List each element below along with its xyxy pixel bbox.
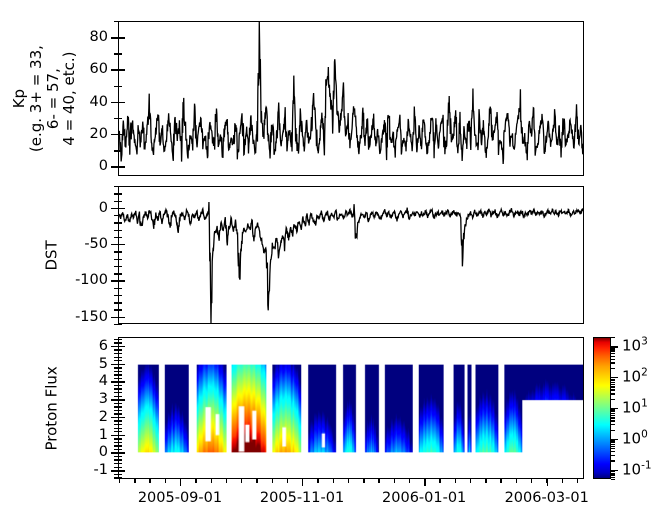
axis-label-line: 4 = 40, etc.) bbox=[61, 21, 78, 176]
proton-flux-spectrogram bbox=[119, 338, 583, 478]
colorbar-minor-tick bbox=[611, 386, 615, 387]
y-major-tick-inner bbox=[118, 317, 125, 318]
y-minor-tick-inner bbox=[118, 150, 122, 151]
y-minor-tick-inner bbox=[118, 21, 122, 22]
colorbar-minor-tick bbox=[611, 474, 615, 475]
y-minor-tick-inner bbox=[118, 288, 122, 289]
axis-label-line: (e.g. 3+ = 33, bbox=[27, 21, 44, 176]
colorbar-minor-tick bbox=[611, 473, 615, 474]
y-minor-tick-inner bbox=[118, 403, 122, 404]
y-major-tick-inner bbox=[118, 280, 125, 281]
y-minor-tick-inner bbox=[118, 342, 122, 343]
y-major-tick bbox=[111, 381, 118, 382]
y-minor-tick-inner bbox=[118, 385, 122, 386]
y-major-tick-inner bbox=[118, 166, 125, 167]
colorbar-minor-tick bbox=[611, 479, 615, 480]
y-major-tick-inner bbox=[118, 102, 125, 103]
y-major-tick bbox=[111, 37, 118, 38]
proton-flux-panel bbox=[118, 337, 584, 479]
x-minor-tick bbox=[500, 479, 501, 483]
y-major-tick bbox=[111, 452, 118, 453]
series-polyline bbox=[119, 22, 583, 164]
colorbar-minor-tick bbox=[611, 477, 615, 478]
y-minor-tick-inner bbox=[118, 251, 122, 252]
y-minor-tick-inner bbox=[118, 424, 122, 425]
y-major-tick bbox=[111, 102, 118, 103]
colorbar-minor-tick bbox=[611, 353, 615, 354]
y-tick-label: 3 bbox=[99, 392, 108, 407]
colorbar-major-tick bbox=[611, 439, 618, 440]
y-minor-tick-inner bbox=[118, 396, 122, 397]
y-tick-label: 0 bbox=[99, 201, 108, 216]
y-major-tick-inner bbox=[118, 244, 125, 245]
y-minor-tick-inner bbox=[118, 222, 122, 223]
kp-series-line bbox=[119, 22, 583, 175]
colorbar-minor-tick bbox=[611, 413, 615, 414]
colorbar-minor-tick bbox=[611, 448, 615, 449]
y-tick-label: 40 bbox=[90, 94, 108, 109]
x-tick-label: 2006-03-01 bbox=[505, 491, 589, 506]
colorbar-minor-tick bbox=[611, 444, 615, 445]
y-minor-tick-inner bbox=[118, 53, 122, 54]
colorbar-ticks: 10-1100101102103 bbox=[593, 337, 611, 479]
y-tick-label: -150 bbox=[75, 309, 108, 324]
x-minor-tick bbox=[226, 479, 227, 483]
colorbar-minor-tick bbox=[611, 415, 615, 416]
x-tick-label: 2005-09-01 bbox=[138, 491, 222, 506]
colorbar-minor-tick bbox=[611, 356, 615, 357]
y-minor-tick-inner bbox=[118, 445, 122, 446]
y-minor-tick-inner bbox=[118, 374, 122, 375]
y-minor-tick-inner bbox=[118, 456, 122, 457]
colorbar-major-tick bbox=[611, 346, 618, 347]
y-minor-tick-inner bbox=[118, 463, 122, 464]
y-minor-tick-inner bbox=[118, 467, 122, 468]
colorbar-minor-tick bbox=[611, 362, 615, 363]
y-tick-label: -50 bbox=[84, 237, 108, 252]
y-minor-tick-inner bbox=[118, 459, 122, 460]
colorbar-exponent: 0 bbox=[641, 428, 648, 440]
proton-flux-axis-label: Proton Flux bbox=[44, 337, 61, 479]
figure-root: Kp(e.g. 3+ = 33,6- = 57,4 = 40, etc.) 02… bbox=[0, 0, 665, 523]
y-minor-tick-inner bbox=[118, 410, 122, 411]
y-minor-tick-inner bbox=[118, 442, 122, 443]
y-major-tick bbox=[111, 134, 118, 135]
y-major-tick-inner bbox=[118, 208, 125, 209]
x-minor-tick bbox=[378, 479, 379, 483]
colorbar-minor-tick bbox=[611, 348, 615, 349]
colorbar-minor-tick bbox=[611, 460, 615, 461]
y-minor-tick-inner bbox=[118, 309, 122, 310]
colorbar-minor-tick bbox=[611, 351, 615, 352]
x-minor-tick bbox=[455, 479, 456, 483]
x-minor-tick bbox=[485, 479, 486, 483]
x-minor-tick bbox=[577, 479, 578, 483]
x-major-tick bbox=[424, 479, 425, 486]
y-minor-tick-inner bbox=[118, 186, 122, 187]
y-major-tick-inner bbox=[118, 69, 125, 70]
y-major-tick bbox=[111, 417, 118, 418]
colorbar-minor-tick bbox=[611, 451, 615, 452]
y-major-tick bbox=[111, 399, 118, 400]
y-minor-tick-inner bbox=[118, 324, 122, 325]
y-minor-tick-inner bbox=[118, 273, 122, 274]
colorbar-tick-label: 102 bbox=[622, 370, 648, 385]
x-minor-tick bbox=[317, 479, 318, 483]
x-major-tick bbox=[180, 479, 181, 486]
y-minor-tick-inner bbox=[118, 237, 122, 238]
colorbar-exponent: 1 bbox=[641, 398, 648, 410]
y-major-tick-inner bbox=[118, 399, 125, 400]
colorbar-minor-tick bbox=[611, 409, 615, 410]
y-minor-tick-inner bbox=[118, 474, 122, 475]
colorbar-minor-tick bbox=[611, 382, 615, 383]
y-minor-tick-inner bbox=[118, 193, 122, 194]
y-tick-label: 60 bbox=[90, 62, 108, 77]
y-minor-tick-inner bbox=[118, 378, 122, 379]
colorbar-major-tick bbox=[611, 377, 618, 378]
y-minor-tick-inner bbox=[118, 449, 122, 450]
y-major-tick-inner bbox=[118, 435, 125, 436]
colorbar-minor-tick bbox=[611, 440, 615, 441]
colorbar-minor-tick bbox=[611, 430, 615, 431]
colorbar-minor-tick bbox=[611, 349, 615, 350]
y-major-tick bbox=[111, 364, 118, 365]
y-minor-tick-inner bbox=[118, 302, 122, 303]
colorbar-minor-tick bbox=[611, 368, 615, 369]
colorbar-tick-label: 101 bbox=[622, 401, 648, 416]
x-minor-tick bbox=[470, 479, 471, 483]
y-tick-label: -1 bbox=[94, 463, 108, 478]
colorbar-tick-label: 100 bbox=[622, 431, 648, 446]
y-major-tick-inner bbox=[118, 364, 125, 365]
x-minor-tick bbox=[409, 479, 410, 483]
y-tick-label: 1 bbox=[99, 427, 108, 442]
x-minor-tick bbox=[134, 479, 135, 483]
y-tick-label: 6 bbox=[99, 339, 108, 354]
y-major-tick bbox=[111, 166, 118, 167]
axis-label-line: Kp bbox=[10, 21, 27, 176]
axis-label-line: Proton Flux bbox=[44, 337, 61, 479]
x-minor-tick bbox=[348, 479, 349, 483]
y-major-tick-inner bbox=[118, 452, 125, 453]
y-minor-tick-inner bbox=[118, 339, 122, 340]
y-minor-tick-inner bbox=[118, 360, 122, 361]
colorbar-minor-tick bbox=[611, 442, 615, 443]
colorbar-exponent: 3 bbox=[641, 336, 648, 348]
x-minor-tick bbox=[439, 479, 440, 483]
y-tick-label: 20 bbox=[90, 127, 108, 142]
y-major-tick bbox=[111, 208, 118, 209]
colorbar: 10-1100101102103 bbox=[593, 337, 611, 479]
x-tick-label: 2005-11-01 bbox=[260, 491, 344, 506]
y-major-tick-inner bbox=[118, 381, 125, 382]
y-tick-label: 0 bbox=[99, 159, 108, 174]
x-major-tick bbox=[547, 479, 548, 486]
y-tick-label: 5 bbox=[99, 356, 108, 371]
y-major-tick bbox=[111, 470, 118, 471]
dst-panel bbox=[118, 186, 584, 324]
y-minor-tick-inner bbox=[118, 215, 122, 216]
colorbar-tick-label: 103 bbox=[622, 339, 648, 354]
x-minor-tick bbox=[195, 479, 196, 483]
x-minor-tick bbox=[256, 479, 257, 483]
colorbar-minor-tick bbox=[611, 379, 615, 380]
y-minor-tick-inner bbox=[118, 353, 122, 354]
colorbar-minor-tick bbox=[611, 455, 615, 456]
colorbar-minor-tick bbox=[611, 471, 615, 472]
y-major-tick bbox=[111, 280, 118, 281]
colorbar-minor-tick bbox=[611, 420, 615, 421]
colorbar-minor-tick bbox=[611, 399, 615, 400]
y-major-tick-inner bbox=[118, 470, 125, 471]
y-minor-tick-inner bbox=[118, 266, 122, 267]
y-minor-tick-inner bbox=[118, 438, 122, 439]
y-tick-label: 80 bbox=[90, 30, 108, 45]
y-major-tick bbox=[111, 346, 118, 347]
colorbar-exponent: 2 bbox=[641, 367, 648, 379]
y-major-tick-inner bbox=[118, 134, 125, 135]
dst-series-line bbox=[119, 187, 583, 323]
y-major-tick bbox=[111, 69, 118, 70]
x-minor-tick bbox=[241, 479, 242, 483]
x-minor-tick bbox=[165, 479, 166, 483]
y-minor-tick-inner bbox=[118, 259, 122, 260]
kp-axis-label: Kp(e.g. 3+ = 33,6- = 57,4 = 40, etc.) bbox=[10, 21, 77, 176]
y-minor-tick-inner bbox=[118, 367, 122, 368]
colorbar-tick-label: 10-1 bbox=[622, 462, 652, 477]
colorbar-minor-tick bbox=[611, 393, 615, 394]
colorbar-minor-tick bbox=[611, 380, 615, 381]
colorbar-exponent: -1 bbox=[641, 459, 651, 471]
colorbar-minor-tick bbox=[611, 446, 615, 447]
y-major-tick bbox=[111, 244, 118, 245]
colorbar-minor-tick bbox=[611, 389, 615, 390]
y-tick-label: 0 bbox=[99, 445, 108, 460]
y-tick-label: 4 bbox=[99, 374, 108, 389]
y-minor-tick-inner bbox=[118, 431, 122, 432]
colorbar-major-tick bbox=[611, 470, 618, 471]
y-minor-tick-inner bbox=[118, 371, 122, 372]
x-minor-tick bbox=[333, 479, 334, 483]
y-major-tick bbox=[111, 435, 118, 436]
axis-label-line: DST bbox=[44, 186, 61, 324]
y-minor-tick-inner bbox=[118, 201, 122, 202]
colorbar-minor-tick bbox=[611, 359, 615, 360]
x-minor-tick bbox=[211, 479, 212, 483]
y-major-tick-inner bbox=[118, 417, 125, 418]
y-minor-tick-inner bbox=[118, 230, 122, 231]
colorbar-minor-tick bbox=[611, 411, 615, 412]
x-minor-tick bbox=[394, 479, 395, 483]
y-major-tick-inner bbox=[118, 37, 125, 38]
y-minor-tick-inner bbox=[118, 392, 122, 393]
x-major-tick bbox=[302, 479, 303, 486]
y-tick-label: 2 bbox=[99, 410, 108, 425]
y-tick-label: -100 bbox=[75, 273, 108, 288]
x-minor-tick bbox=[272, 479, 273, 483]
y-major-tick bbox=[111, 317, 118, 318]
x-minor-tick bbox=[363, 479, 364, 483]
colorbar-major-tick bbox=[611, 408, 618, 409]
x-minor-tick bbox=[287, 479, 288, 483]
x-tick-label: 2006-01-01 bbox=[382, 491, 466, 506]
y-minor-tick-inner bbox=[118, 357, 122, 358]
y-minor-tick-inner bbox=[118, 413, 122, 414]
axis-label-line: 6- = 57, bbox=[44, 21, 61, 176]
x-minor-tick bbox=[516, 479, 517, 483]
kp-panel bbox=[118, 21, 584, 176]
x-minor-tick bbox=[562, 479, 563, 483]
colorbar-minor-tick bbox=[611, 417, 615, 418]
y-minor-tick-inner bbox=[118, 420, 122, 421]
colorbar-minor-tick bbox=[611, 337, 615, 338]
y-minor-tick-inner bbox=[118, 406, 122, 407]
dst-axis-label: DST bbox=[44, 186, 61, 324]
y-minor-tick-inner bbox=[118, 295, 122, 296]
colorbar-minor-tick bbox=[611, 424, 615, 425]
colorbar-minor-tick bbox=[611, 384, 615, 385]
y-minor-tick-inner bbox=[118, 118, 122, 119]
y-minor-tick-inner bbox=[118, 86, 122, 87]
y-major-tick-inner bbox=[118, 346, 125, 347]
x-minor-tick bbox=[149, 479, 150, 483]
y-minor-tick-inner bbox=[118, 349, 122, 350]
series-polyline bbox=[119, 202, 583, 323]
y-minor-tick-inner bbox=[118, 428, 122, 429]
x-minor-tick bbox=[119, 479, 120, 483]
x-minor-tick bbox=[531, 479, 532, 483]
y-minor-tick-inner bbox=[118, 388, 122, 389]
